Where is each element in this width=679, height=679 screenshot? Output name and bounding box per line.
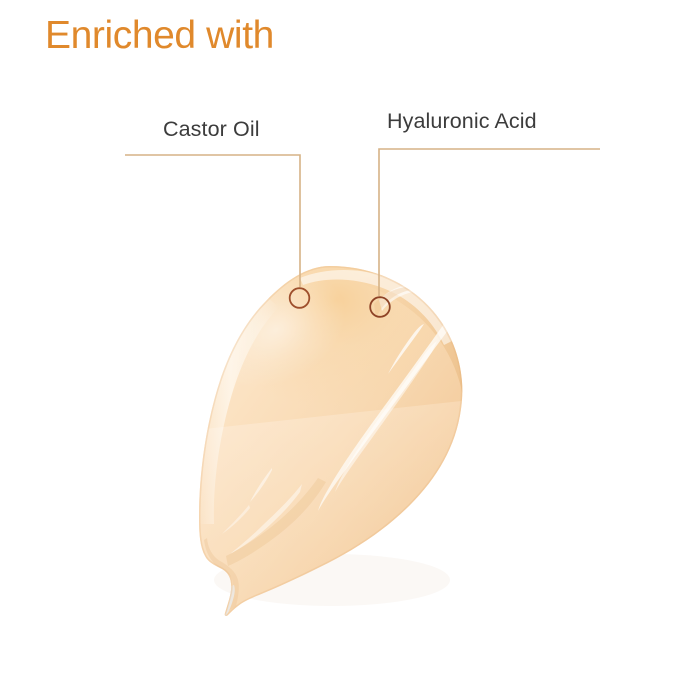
callout-label-castor-oil: Castor Oil <box>163 116 260 142</box>
callout-label-hyaluronic-acid: Hyaluronic Acid <box>387 108 537 134</box>
enriched-with-ingredients-graphic: Enriched with Castor Oil Hyaluronic Acid <box>0 0 679 679</box>
cream-swatch <box>0 0 679 679</box>
page-title: Enriched with <box>45 12 274 60</box>
